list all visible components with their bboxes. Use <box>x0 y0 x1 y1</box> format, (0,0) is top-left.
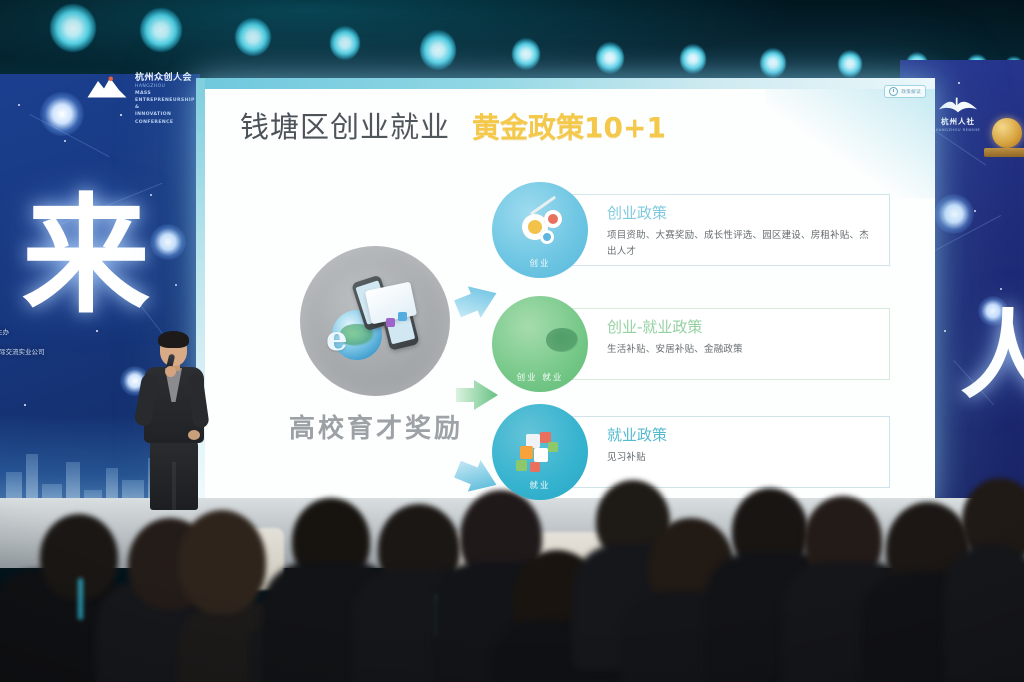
gears-icon <box>514 208 566 254</box>
slide-badge[interactable]: 政策解读 <box>884 85 926 98</box>
ceiling-spotlight <box>235 18 271 56</box>
policy-disc: 创业 <box>492 182 588 278</box>
policy-row-entrepreneurship-employment[interactable]: 创业-就业政策 生活补贴、安居补贴、金融政策 创业 就业 <box>492 296 890 392</box>
ceiling-spotlight <box>680 44 706 74</box>
event-logo-en-1: MASS <box>135 91 151 96</box>
speaker-hand <box>165 366 176 377</box>
mountain-logo-icon <box>86 74 128 100</box>
policy-title: 就业政策 <box>607 426 889 444</box>
mobile-globe-icon: e <box>328 276 424 368</box>
org-logo-cn: 杭州人社 <box>928 116 988 127</box>
cubes-icon <box>514 430 566 476</box>
policy-title: 创业-就业政策 <box>607 318 889 336</box>
event-logo-left: 杭州众创人会 HANGZHOU MASS ENTREPRENEURSHIP & … <box>86 70 193 126</box>
event-logo-en-5: CONFERENCE <box>135 120 173 125</box>
event-logo-en-4: INNOVATION <box>135 112 171 117</box>
info-icon <box>889 87 898 96</box>
backdrop-calligraphy-left: 来 <box>22 198 152 316</box>
policy-disc-label: 就业 <box>529 479 550 491</box>
ceiling-spotlight <box>512 38 540 70</box>
backdrop-left-credit-2: 省国际交流实业公司 <box>0 346 45 358</box>
slide-badge-label: 政策解读 <box>901 89 921 95</box>
policy-text: 生活补贴、安居补贴、金融政策 <box>607 342 875 358</box>
gold-emblem-caption <box>984 148 1024 157</box>
ceiling-spotlight <box>596 42 624 74</box>
hero-circle: e <box>300 246 450 396</box>
policy-row-entrepreneurship[interactable]: 创业政策 项目资助、大赛奖励、成长性评选、园区建设、房租补贴、杰出人才 创业 <box>492 182 890 278</box>
bird-logo-icon <box>936 96 980 114</box>
org-logo-right: 杭州人社 HANGZHOU RENSHE <box>928 96 988 132</box>
policy-disc: 创业 就业 <box>492 296 588 392</box>
policy-disc-label: 创业 就业 <box>517 371 564 383</box>
lanyard <box>78 578 83 620</box>
policy-disc: 就业 <box>492 404 588 500</box>
event-logo-en-2: ENTREPRENEURSHIP <box>135 98 195 103</box>
ceiling-spotlight <box>330 26 360 60</box>
event-logo-cn: 杭州众创人会 <box>135 70 193 83</box>
slide-top-band <box>196 78 935 89</box>
slide-title-accent: 黄金政策10+1 <box>472 106 666 146</box>
backdrop-left-credit-1: 主办 <box>0 326 9 338</box>
policy-title: 创业政策 <box>607 204 889 222</box>
slide-canvas: 政策解读 钱塘区创业就业 黄金政策10+1 e 高校育才奖励 <box>196 78 935 510</box>
conference-photo-scene: 来 主办 省国际交流实业公司 <box>0 0 1024 682</box>
slide-title-main: 钱塘区创业就业 <box>240 104 450 146</box>
policy-text: 项目资助、大赛奖励、成长性评选、园区建设、房租补贴、杰出人才 <box>607 228 875 259</box>
audience-head <box>178 510 266 614</box>
event-logo-en-3: & <box>135 105 139 110</box>
policy-panel: 创业-就业政策 生活补贴、安居补贴、金融政策 <box>548 308 890 380</box>
org-logo-en: HANGZHOU RENSHE <box>928 128 988 132</box>
policy-panel: 创业政策 项目资助、大赛奖励、成长性评选、园区建设、房租补贴、杰出人才 <box>548 194 890 266</box>
ceiling-spotlight <box>140 8 182 52</box>
projection-screen: 政策解读 钱塘区创业就业 黄金政策10+1 e 高校育才奖励 <box>196 78 935 510</box>
gold-emblem-icon <box>992 118 1022 148</box>
policy-disc-label: 创业 <box>529 257 550 269</box>
ceiling-spotlight <box>50 4 96 52</box>
e-letter-icon: e <box>326 322 348 356</box>
app-tile-blue <box>398 312 407 321</box>
event-logo-pinyin: HANGZHOU <box>135 84 165 89</box>
audience-body <box>944 544 1024 682</box>
ceiling-spotlight <box>838 50 862 78</box>
ceiling-spotlight <box>420 30 456 70</box>
ceiling-spotlight <box>760 48 786 78</box>
event-logo-en: HANGZHOU MASS ENTREPRENEURSHIP & INNOVAT… <box>135 83 193 126</box>
app-tile-purple <box>386 318 395 327</box>
hero-label: 高校育才奖励 <box>252 408 500 445</box>
speaker-hand-lower <box>188 430 200 440</box>
slide-title: 钱塘区创业就业 黄金政策10+1 <box>240 104 666 146</box>
backdrop-calligraphy-right: 人 <box>960 312 1024 400</box>
